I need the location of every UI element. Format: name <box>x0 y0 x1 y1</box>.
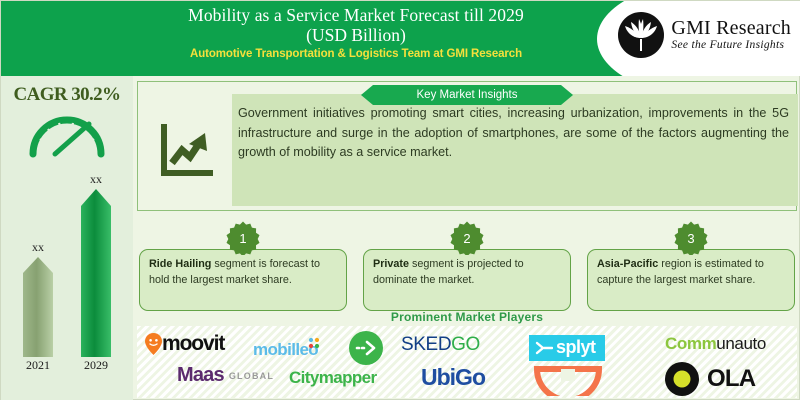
logo-skedgo-go-text: GO <box>451 334 480 356</box>
insights-body: Government initiatives promoting smart c… <box>138 94 798 206</box>
bar-group-2029: xx 2029 <box>73 172 119 373</box>
main-content: Key Market Insights Government initiativ… <box>133 76 800 400</box>
bar-shape-2021 <box>15 257 61 357</box>
insight-card-2-bold: Private <box>373 258 409 270</box>
bar-year-2021: 2021 <box>15 358 61 373</box>
bar-group-2021: xx 2021 <box>15 240 61 373</box>
didi-arc-icon <box>533 366 603 396</box>
badge-number-3: 3 <box>674 221 708 255</box>
logo-didi <box>533 366 603 396</box>
logo-maas-global-text: GLOBAL <box>229 371 274 381</box>
moovit-pin-icon <box>145 333 162 355</box>
logo-skedgo-sked-text: SKED <box>401 334 451 356</box>
gmi-palm-emblem-icon <box>617 11 665 59</box>
growth-chart-icon <box>156 119 218 181</box>
logo-ubigo: UbiGo <box>421 364 485 391</box>
logo-splyt-text: splyt <box>556 337 596 358</box>
insight-card-1-text: Ride Hailing segment is forecast to hold… <box>139 249 347 311</box>
logo-maas-global: Maas GLOBAL <box>177 364 274 387</box>
logo-communauto: Comm unauto <box>665 334 766 354</box>
logo-skedgo: SKED GO <box>401 334 480 356</box>
bar-value-2021: xx <box>15 240 61 255</box>
key-market-insights-ribbon: Key Market Insights <box>361 85 573 105</box>
insight-cards: 1 Ride Hailing segment is forecast to ho… <box>137 221 797 311</box>
insight-card-3-text: Asia-Pacific region is estimated to capt… <box>587 249 795 311</box>
insights-paragraph: Government initiatives promoting smart c… <box>232 94 798 206</box>
logo-moovit: moovit <box>145 332 224 356</box>
logo-communauto-unauto-text: unauto <box>716 334 766 354</box>
gmi-research-logo: GMI Research See the Future Insights <box>617 11 791 59</box>
splyt-mark-icon <box>535 340 553 356</box>
prominent-market-players-title: Prominent Market Players <box>133 310 800 324</box>
logo-maas-text: Maas <box>177 364 224 387</box>
badge-number-1-text: 1 <box>226 221 260 255</box>
badge-number-3-text: 3 <box>674 221 708 255</box>
bar-year-2029: 2029 <box>73 358 119 373</box>
logo-ubigo-text: UbiGo <box>421 364 485 391</box>
page-subtitle-units: (USD Billion) <box>121 25 591 45</box>
logo-ola: OLA <box>665 362 755 396</box>
badge-number-1: 1 <box>226 221 260 255</box>
logo-moovit-text: moovit <box>162 332 224 356</box>
bar-shape-2029 <box>73 189 119 357</box>
insight-card-1[interactable]: 1 Ride Hailing segment is forecast to ho… <box>139 249 347 311</box>
team-attribution: Automotive Transportation & Logistics Te… <box>121 48 591 60</box>
cagr-panel: CAGR 30.2% xx <box>1 76 133 400</box>
ola-mark-icon <box>665 362 699 396</box>
logo-mobilleo: mobilleo <box>253 337 320 362</box>
header-bar: Mobility as a Service Market Forecast ti… <box>1 1 800 76</box>
mobilleo-dots-icon <box>308 337 320 349</box>
infographic-root: Mobility as a Service Market Forecast ti… <box>0 0 800 400</box>
bar-value-2029: xx <box>73 172 119 187</box>
logo-communauto-comm-text: Comm <box>665 334 716 354</box>
insight-card-2-text: Private segment is projected to dominate… <box>363 249 571 311</box>
arrow-circle-icon <box>349 331 383 365</box>
cagr-value-label: CAGR 30.2% <box>1 84 133 106</box>
badge-number-2: 2 <box>450 221 484 255</box>
forecast-bar-chart: xx 2021 xx <box>1 163 133 373</box>
insights-icon-cell <box>138 94 232 206</box>
insight-card-3-bold: Asia-Pacific <box>597 258 658 270</box>
key-market-insights-panel: Key Market Insights Government initiativ… <box>137 81 797 211</box>
logo-splyt-box: splyt <box>529 335 605 361</box>
insight-card-3[interactable]: 3 Asia-Pacific region is estimated to ca… <box>587 249 795 311</box>
header-title-block: Mobility as a Service Market Forecast ti… <box>121 5 591 60</box>
logo-splyt: splyt <box>529 335 605 361</box>
gmi-brand-tagline: See the Future Insights <box>671 40 791 52</box>
logo-citymapper: Citymapper <box>289 368 377 388</box>
insight-card-2[interactable]: 2 Private segment is projected to domina… <box>363 249 571 311</box>
page-title: Mobility as a Service Market Forecast ti… <box>121 5 591 25</box>
logo-ola-text: OLA <box>707 365 755 393</box>
speedometer-gauge-icon <box>27 106 107 158</box>
logo-green-arrow-badge <box>349 331 383 365</box>
market-players-logo-strip: moovit mobilleo Maas GLOBAL <box>137 326 797 398</box>
badge-number-2-text: 2 <box>450 221 484 255</box>
logo-citymapper-text: Citymapper <box>289 368 377 388</box>
gmi-brand-name: GMI Research <box>671 18 791 38</box>
insight-card-1-bold: Ride Hailing <box>149 258 211 270</box>
